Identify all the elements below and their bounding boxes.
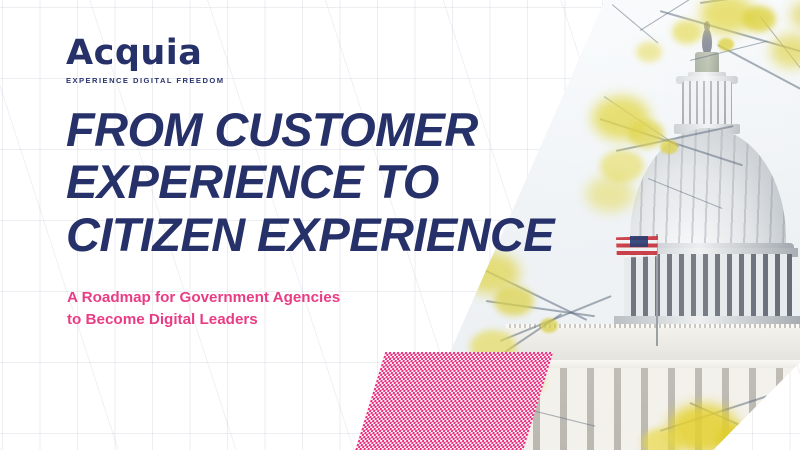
marketing-hero-banner: Acquia EXPERIENCE DIGITAL FREEDOM FROM C… <box>0 0 800 450</box>
acquia-tagline: EXPERIENCE DIGITAL FREEDOM <box>66 76 266 85</box>
acquia-logo[interactable]: Acquia EXPERIENCE DIGITAL FREEDOM <box>66 36 266 85</box>
page-title: FROM CUSTOMER EXPERIENCE TO CITIZEN EXPE… <box>66 104 666 261</box>
page-subtitle: A Roadmap for Government Agencies to Bec… <box>67 287 397 330</box>
acquia-wordmark: Acquia <box>66 36 266 71</box>
